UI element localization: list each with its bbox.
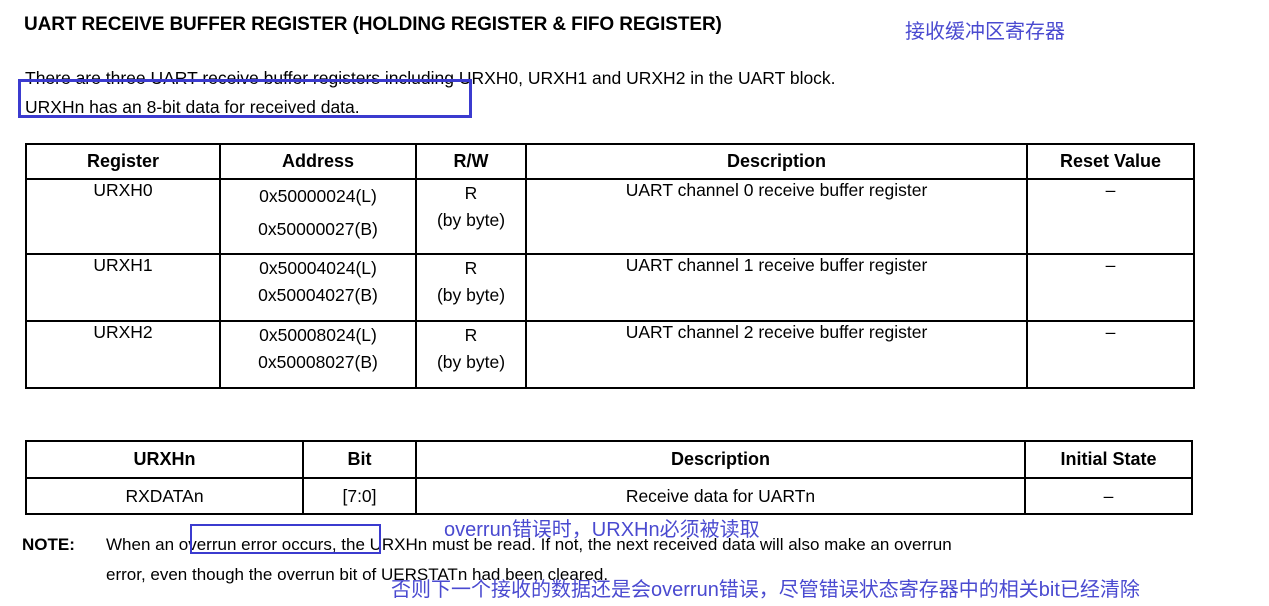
cell-address-little-endian: 0x50000024(L) [221,180,415,213]
table-header-row: Register Address R/W Description Reset V… [26,144,1194,179]
cell-address-big-endian: 0x50008027(B) [221,349,415,376]
cell-rw-mode: R [417,180,525,207]
column-header-address: Address [220,144,416,179]
cell-register: URXH1 [26,254,220,321]
cell-address: 0x50000024(L) 0x50000027(B) [220,179,416,254]
cell-address-big-endian: 0x50004027(B) [221,282,415,309]
table-row: URXH0 0x50000024(L) 0x50000027(B) R (by … [26,179,1194,254]
cell-register: URXH2 [26,321,220,388]
column-header-urxhn: URXHn [26,441,303,478]
column-header-reset-value: Reset Value [1027,144,1194,179]
cell-rw: R (by byte) [416,321,526,388]
title-chinese-annotation: 接收缓冲区寄存器 [905,15,1065,44]
cell-description: UART channel 0 receive buffer register [526,179,1027,254]
page-title: UART RECEIVE BUFFER REGISTER (HOLDING RE… [24,14,722,36]
register-table: Register Address R/W Description Reset V… [25,143,1195,389]
cell-rw-mode: R [417,255,525,282]
cell-rw-granularity: (by byte) [417,282,525,309]
table-row: RXDATAn [7:0] Receive data for UARTn – [26,478,1192,514]
column-header-register: Register [26,144,220,179]
cell-description: Receive data for UARTn [416,478,1025,514]
column-header-description: Description [526,144,1027,179]
column-header-initial-state: Initial State [1025,441,1192,478]
cell-register: URXH0 [26,179,220,254]
note-chinese-annotation-2: 否则下一个接收的数据还是会overrun错误，尽管错误状态寄存器中的相关bit已… [391,573,1140,602]
cell-reset-value: – [1027,179,1194,254]
cell-address-little-endian: 0x50004024(L) [221,255,415,282]
note-label: NOTE: [22,535,75,555]
cell-field-name: RXDATAn [26,478,303,514]
table-row: URXH1 0x50004024(L) 0x50004027(B) R (by … [26,254,1194,321]
cell-address: 0x50008024(L) 0x50008027(B) [220,321,416,388]
cell-initial-state: – [1025,478,1192,514]
cell-bit-range: [7:0] [303,478,416,514]
cell-rw: R (by byte) [416,179,526,254]
cell-reset-value: – [1027,321,1194,388]
cell-reset-value: – [1027,254,1194,321]
intro-highlight-box [18,79,472,118]
note-highlight-box [190,524,381,554]
cell-rw-granularity: (by byte) [417,349,525,376]
column-header-bit: Bit [303,441,416,478]
column-header-rw: R/W [416,144,526,179]
table-row: URXH2 0x50008024(L) 0x50008027(B) R (by … [26,321,1194,388]
cell-rw: R (by byte) [416,254,526,321]
cell-rw-mode: R [417,322,525,349]
cell-description: UART channel 1 receive buffer register [526,254,1027,321]
cell-address-big-endian: 0x50000027(B) [221,213,415,246]
column-header-description: Description [416,441,1025,478]
cell-description: UART channel 2 receive buffer register [526,321,1027,388]
cell-address-little-endian: 0x50008024(L) [221,322,415,349]
bitfield-table: URXHn Bit Description Initial State RXDA… [25,440,1193,515]
table-header-row: URXHn Bit Description Initial State [26,441,1192,478]
cell-rw-granularity: (by byte) [417,207,525,234]
cell-address: 0x50004024(L) 0x50004027(B) [220,254,416,321]
note-chinese-annotation-1: overrun错误时，URXHn必须被读取 [444,513,760,542]
